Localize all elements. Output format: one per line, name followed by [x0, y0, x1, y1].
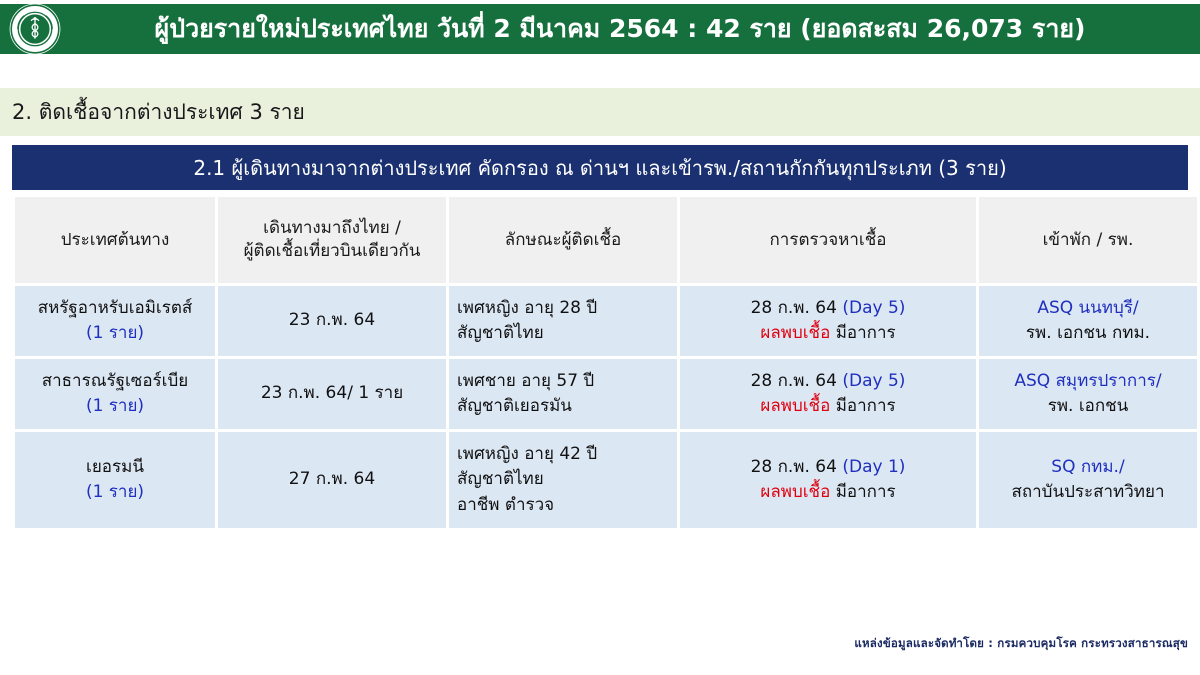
profile-line-2: สัญชาติไทย: [457, 321, 669, 347]
test-date-line: 28 ก.พ. 64 (Day 5): [688, 369, 968, 395]
country-name: สาธารณรัฐเซอร์เบีย: [23, 369, 207, 395]
test-result: ผลพบเชื้อ: [760, 482, 830, 502]
test-result: ผลพบเชื้อ: [760, 323, 830, 343]
cell-origin-country: สาธารณรัฐเซอร์เบีย (1 ราย): [15, 359, 215, 429]
column-header-arrival-line2: ผู้ติดเชื้อเที่ยวบินเดียวกัน: [244, 241, 421, 261]
column-header-arrival: เดินทางมาถึงไทย / ผู้ติดเชื้อเที่ยวบินเด…: [218, 197, 446, 283]
accommodation-line-2: รพ. เอกชน กทม.: [987, 321, 1189, 347]
cases-table: ประเทศต้นทาง เดินทางมาถึงไทย / ผู้ติดเชื…: [12, 194, 1200, 531]
column-header-testing: การตรวจหาเชื้อ: [680, 197, 976, 283]
column-header-origin-country: ประเทศต้นทาง: [15, 197, 215, 283]
moph-seal-caduceus-icon: [8, 2, 62, 56]
table-header-row: ประเทศต้นทาง เดินทางมาถึงไทย / ผู้ติดเชื…: [15, 197, 1197, 283]
cell-origin-country: เยอรมนี (1 ราย): [15, 432, 215, 528]
table-row: สหรัฐอาหรับเอมิเรตส์ (1 ราย) 23 ก.พ. 64 …: [15, 286, 1197, 356]
test-symptom: มีอาการ: [836, 323, 896, 343]
test-date: 28 ก.พ. 64: [751, 457, 837, 477]
footer-source-note: แหล่งข้อมูลและจัดทำโดย : กรมควบคุมโรค กร…: [854, 635, 1188, 653]
test-result-line: ผลพบเชื้อ มีอาการ: [688, 394, 968, 420]
country-name: สหรัฐอาหรับเอมิเรตส์: [23, 296, 207, 322]
cell-origin-country: สหรัฐอาหรับเอมิเรตส์ (1 ราย): [15, 286, 215, 356]
table-body: สหรัฐอาหรับเอมิเรตส์ (1 ราย) 23 ก.พ. 64 …: [15, 286, 1197, 528]
column-header-arrival-line1: เดินทางมาถึงไทย /: [263, 218, 401, 238]
test-result-line: ผลพบเชื้อ มีอาการ: [688, 321, 968, 347]
profile-line-2: สัญชาติไทย: [457, 467, 669, 493]
profile-line-1: เพศหญิง อายุ 42 ปี: [457, 442, 669, 468]
country-case-count: (1 ราย): [23, 321, 207, 347]
cell-testing: 28 ก.พ. 64 (Day 5) ผลพบเชื้อ มีอาการ: [680, 286, 976, 356]
cell-testing: 28 ก.พ. 64 (Day 5) ผลพบเชื้อ มีอาการ: [680, 359, 976, 429]
profile-line-1: เพศชาย อายุ 57 ปี: [457, 369, 669, 395]
country-case-count: (1 ราย): [23, 394, 207, 420]
accommodation-line-1: ASQ สมุทรปราการ/: [987, 369, 1189, 395]
subtitle-bar: 2.1 ผู้เดินทางมาจากต่างประเทศ คัดกรอง ณ …: [12, 145, 1188, 190]
accommodation-line-2: สถาบันประสาทวิทยา: [987, 480, 1189, 506]
profile-line-2: สัญชาติเยอรมัน: [457, 394, 669, 420]
cell-arrival-date: 23 ก.พ. 64/ 1 ราย: [218, 359, 446, 429]
cell-patient-profile: เพศชาย อายุ 57 ปี สัญชาติเยอรมัน: [449, 359, 677, 429]
subtitle-text: 2.1 ผู้เดินทางมาจากต่างประเทศ คัดกรอง ณ …: [193, 152, 1006, 184]
cell-patient-profile: เพศหญิง อายุ 42 ปี สัญชาติไทย อาชีพ ตำรว…: [449, 432, 677, 528]
cell-arrival-date: 27 ก.พ. 64: [218, 432, 446, 528]
country-case-count: (1 ราย): [23, 480, 207, 506]
cases-table-wrapper: ประเทศต้นทาง เดินทางมาถึงไทย / ผู้ติดเชื…: [12, 194, 1188, 531]
cell-accommodation: ASQ สมุทรปราการ/ รพ. เอกชน: [979, 359, 1197, 429]
header-banner: ผู้ป่วยรายใหม่ประเทศไทย วันที่ 2 มีนาคม …: [0, 4, 1200, 54]
test-date: 28 ก.พ. 64: [751, 371, 837, 391]
profile-line-1: เพศหญิง อายุ 28 ปี: [457, 296, 669, 322]
test-day-number: (Day 5): [842, 298, 905, 318]
section-heading: 2. ติดเชื้อจากต่างประเทศ 3 ราย: [0, 96, 305, 129]
test-date-line: 28 ก.พ. 64 (Day 5): [688, 296, 968, 322]
cell-testing: 28 ก.พ. 64 (Day 1) ผลพบเชื้อ มีอาการ: [680, 432, 976, 528]
test-result-line: ผลพบเชื้อ มีอาการ: [688, 480, 968, 506]
table-row: เยอรมนี (1 ราย) 27 ก.พ. 64 เพศหญิง อายุ …: [15, 432, 1197, 528]
test-symptom: มีอาการ: [836, 482, 896, 502]
cell-patient-profile: เพศหญิง อายุ 28 ปี สัญชาติไทย: [449, 286, 677, 356]
column-header-accommodation: เข้าพัก / รพ.: [979, 197, 1197, 283]
column-header-patient-profile: ลักษณะผู้ติดเชื้อ: [449, 197, 677, 283]
table-header: ประเทศต้นทาง เดินทางมาถึงไทย / ผู้ติดเชื…: [15, 197, 1197, 283]
test-day-number: (Day 5): [842, 371, 905, 391]
section-band: 2. ติดเชื้อจากต่างประเทศ 3 ราย: [0, 88, 1200, 136]
test-date: 28 ก.พ. 64: [751, 298, 837, 318]
country-name: เยอรมนี: [23, 455, 207, 481]
cell-accommodation: SQ กทม./ สถาบันประสาทวิทยา: [979, 432, 1197, 528]
slide-root: ผู้ป่วยรายใหม่ประเทศไทย วันที่ 2 มีนาคม …: [0, 0, 1200, 675]
table-row: สาธารณรัฐเซอร์เบีย (1 ราย) 23 ก.พ. 64/ 1…: [15, 359, 1197, 429]
test-day-number: (Day 1): [842, 457, 905, 477]
profile-line-3: อาชีพ ตำรวจ: [457, 493, 669, 519]
accommodation-line-2: รพ. เอกชน: [987, 394, 1189, 420]
page-title: ผู้ป่วยรายใหม่ประเทศไทย วันที่ 2 มีนาคม …: [0, 4, 1200, 54]
accommodation-line-1: SQ กทม./: [987, 455, 1189, 481]
test-symptom: มีอาการ: [836, 396, 896, 416]
accommodation-line-1: ASQ นนทบุรี/: [987, 296, 1189, 322]
test-result: ผลพบเชื้อ: [760, 396, 830, 416]
cell-accommodation: ASQ นนทบุรี/ รพ. เอกชน กทม.: [979, 286, 1197, 356]
cell-arrival-date: 23 ก.พ. 64: [218, 286, 446, 356]
test-date-line: 28 ก.พ. 64 (Day 1): [688, 455, 968, 481]
